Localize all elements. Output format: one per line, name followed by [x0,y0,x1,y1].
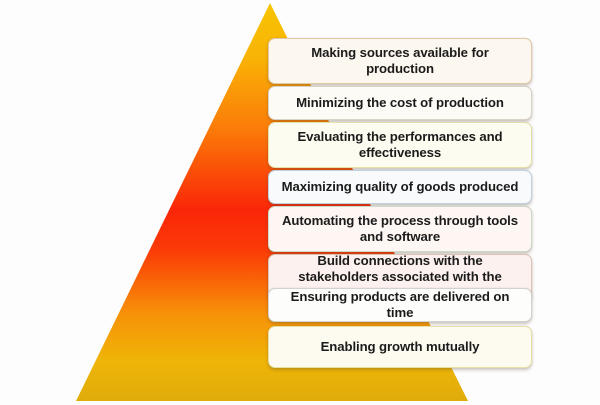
pyramid-level-4[interactable]: Maximizing quality of goods produced [268,170,532,204]
pyramid-level-2-label: Minimizing the cost of production [287,95,513,111]
pyramid-level-5-label: Automating the process through tools and… [269,213,531,245]
pyramid-level-2[interactable]: Minimizing the cost of production [268,86,532,120]
pyramid-level-8-label: Enabling growth mutually [312,339,489,355]
pyramid-level-5[interactable]: Automating the process through tools and… [268,206,532,252]
pyramid-level-list: Making sources available for production … [0,0,600,405]
pyramid-level-7-label: Ensuring products are delivered on time [269,289,531,321]
pyramid-level-3-label: Evaluating the performances and effectiv… [269,129,531,161]
pyramid-level-1-label: Making sources available for production [269,45,531,77]
pyramid-level-8[interactable]: Enabling growth mutually [268,326,532,368]
pyramid-level-3[interactable]: Evaluating the performances and effectiv… [268,122,532,168]
pyramid-level-7[interactable]: Ensuring products are delivered on time [268,288,532,322]
pyramid-level-4-label: Maximizing quality of goods produced [273,179,528,195]
pyramid-diagram-canvas: Making sources available for production … [0,0,600,405]
pyramid-level-1[interactable]: Making sources available for production [268,38,532,84]
